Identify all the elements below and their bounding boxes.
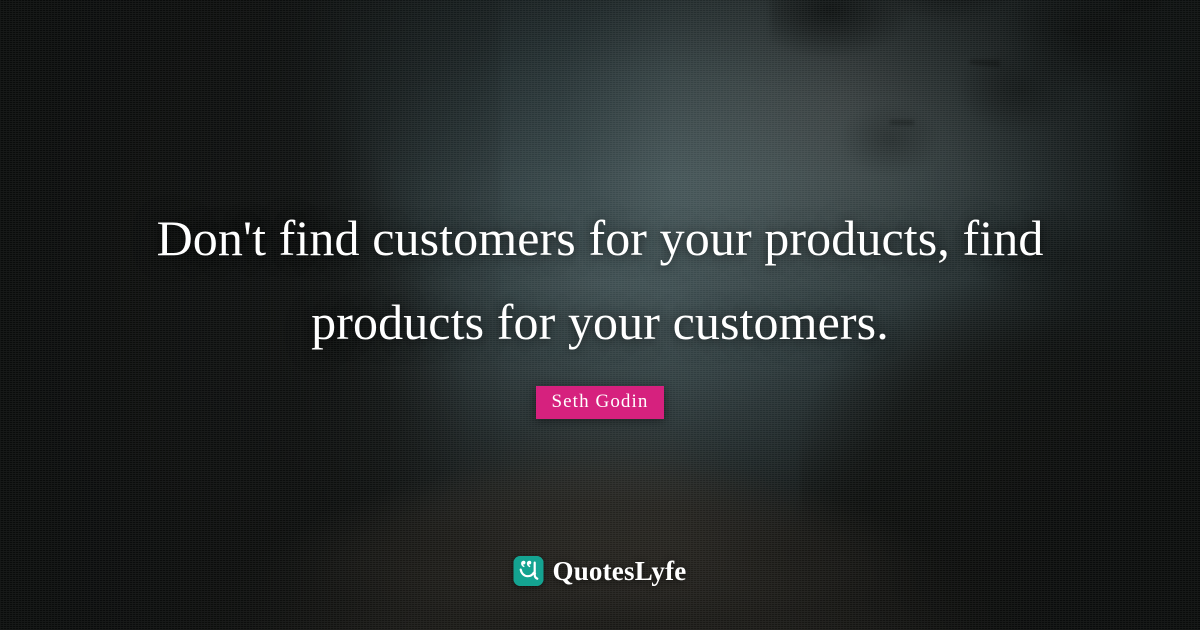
quote-text: Don't find customers for your products, …	[105, 196, 1095, 364]
brand-name: QuotesLyfe	[553, 558, 687, 585]
quote-smiley-icon	[514, 556, 544, 586]
author-badge[interactable]: Seth Godin	[536, 386, 663, 419]
card-content: Don't find customers for your products, …	[0, 0, 1200, 630]
quote-card: Don't find customers for your products, …	[0, 0, 1200, 630]
brand-logo[interactable]: QuotesLyfe	[514, 556, 687, 586]
